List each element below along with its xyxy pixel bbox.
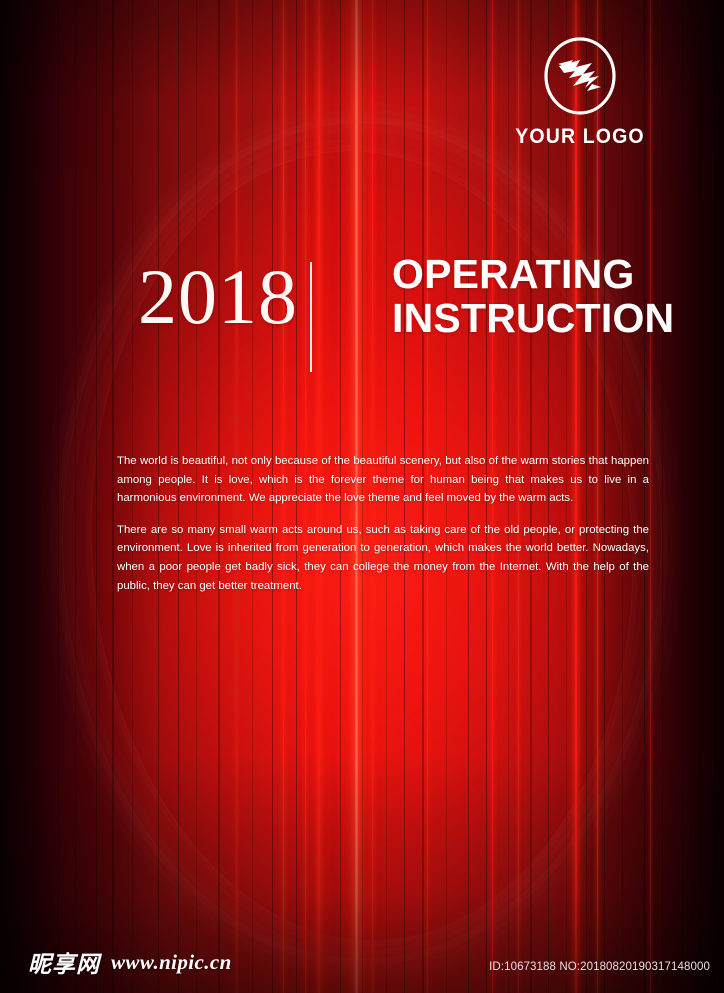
year-text: 2018 <box>138 258 298 336</box>
logo-label: YOUR LOGO <box>513 125 647 149</box>
poster-canvas: YOUR LOGO 2018 OPERATING INSTRUCTION The… <box>0 0 724 993</box>
footer: 昵享网 www.nipic.cn ID:10673188 NO:20180820… <box>0 937 724 993</box>
title-line-2: INSTRUCTION <box>392 296 674 340</box>
title-line-1: OPERATING <box>392 252 674 296</box>
headline-divider <box>310 262 312 372</box>
page-title: OPERATING INSTRUCTION <box>392 252 674 341</box>
logo-block: YOUR LOGO <box>508 36 652 149</box>
poster-content: YOUR LOGO 2018 OPERATING INSTRUCTION The… <box>0 0 724 993</box>
watermark-url: www.nipic.cn <box>111 950 232 975</box>
headline-row: 2018 OPERATING INSTRUCTION <box>0 258 724 378</box>
body-paragraph-1: The world is beautiful, not only because… <box>117 452 649 508</box>
asset-reference-id: ID:10673188 NO:20180820190317148000 <box>489 961 710 973</box>
body-copy: The world is beautiful, not only because… <box>117 452 649 595</box>
watermark: 昵享网 www.nipic.cn <box>28 945 232 979</box>
watermark-logo-cn: 昵享网 <box>28 945 100 979</box>
body-paragraph-2: There are so many small warm acts around… <box>117 521 649 595</box>
z-arrow-circle-icon <box>543 36 617 116</box>
